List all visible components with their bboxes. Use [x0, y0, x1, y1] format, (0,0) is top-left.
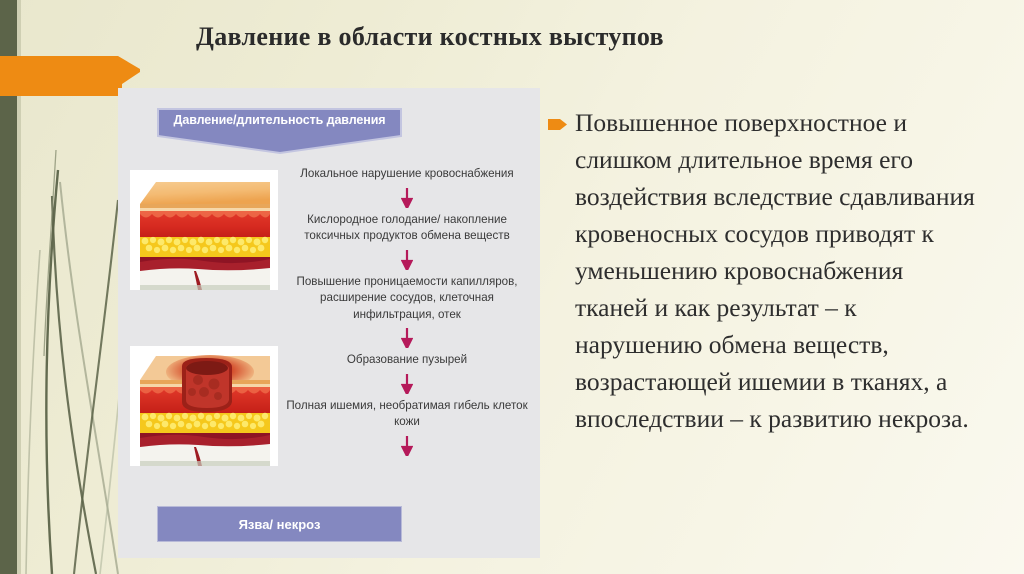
skin-cross-section-intact — [130, 170, 278, 290]
content-paragraph: Повышенное поверхностное и слишком длите… — [575, 104, 978, 437]
diagram-header-banner: Давление/длительность давления — [157, 108, 402, 154]
arrow-down-icon — [401, 374, 413, 394]
content-bullet-block: Повышенное поверхностное и слишком длите… — [548, 104, 978, 437]
orange-arrow-bullet-icon — [548, 118, 567, 131]
page-title: Давление в области костных выступов — [196, 22, 916, 52]
diagram-footer-label: Язва/ некроз — [239, 517, 321, 532]
arrow-down-icon — [401, 328, 413, 348]
flow-step: Локальное нарушение кровоснабжения — [278, 166, 536, 183]
flow-step: Повышение проницаемости капилляров, расш… — [278, 274, 536, 324]
flow-step: Кислородное голодание/ накопление токсич… — [278, 212, 536, 245]
slide-canvas: Давление в области костных выступов Давл… — [0, 0, 1024, 574]
diagram-flow-list: Локальное нарушение кровоснабжения Кисло… — [278, 166, 536, 460]
diagram-footer-box: Язва/ некроз — [157, 506, 402, 542]
skin-cross-section-ulcer — [130, 346, 278, 466]
arrow-down-icon — [401, 250, 413, 270]
diagram-panel: Давление/длительность давления — [118, 88, 540, 558]
arrow-down-icon — [401, 188, 413, 208]
flow-step: Образование пузырей — [278, 352, 536, 369]
arrow-down-icon — [401, 436, 413, 456]
flow-step: Полная ишемия, необратимая гибель клеток… — [278, 398, 536, 431]
diagram-header-label: Давление/длительность давления — [157, 113, 402, 127]
